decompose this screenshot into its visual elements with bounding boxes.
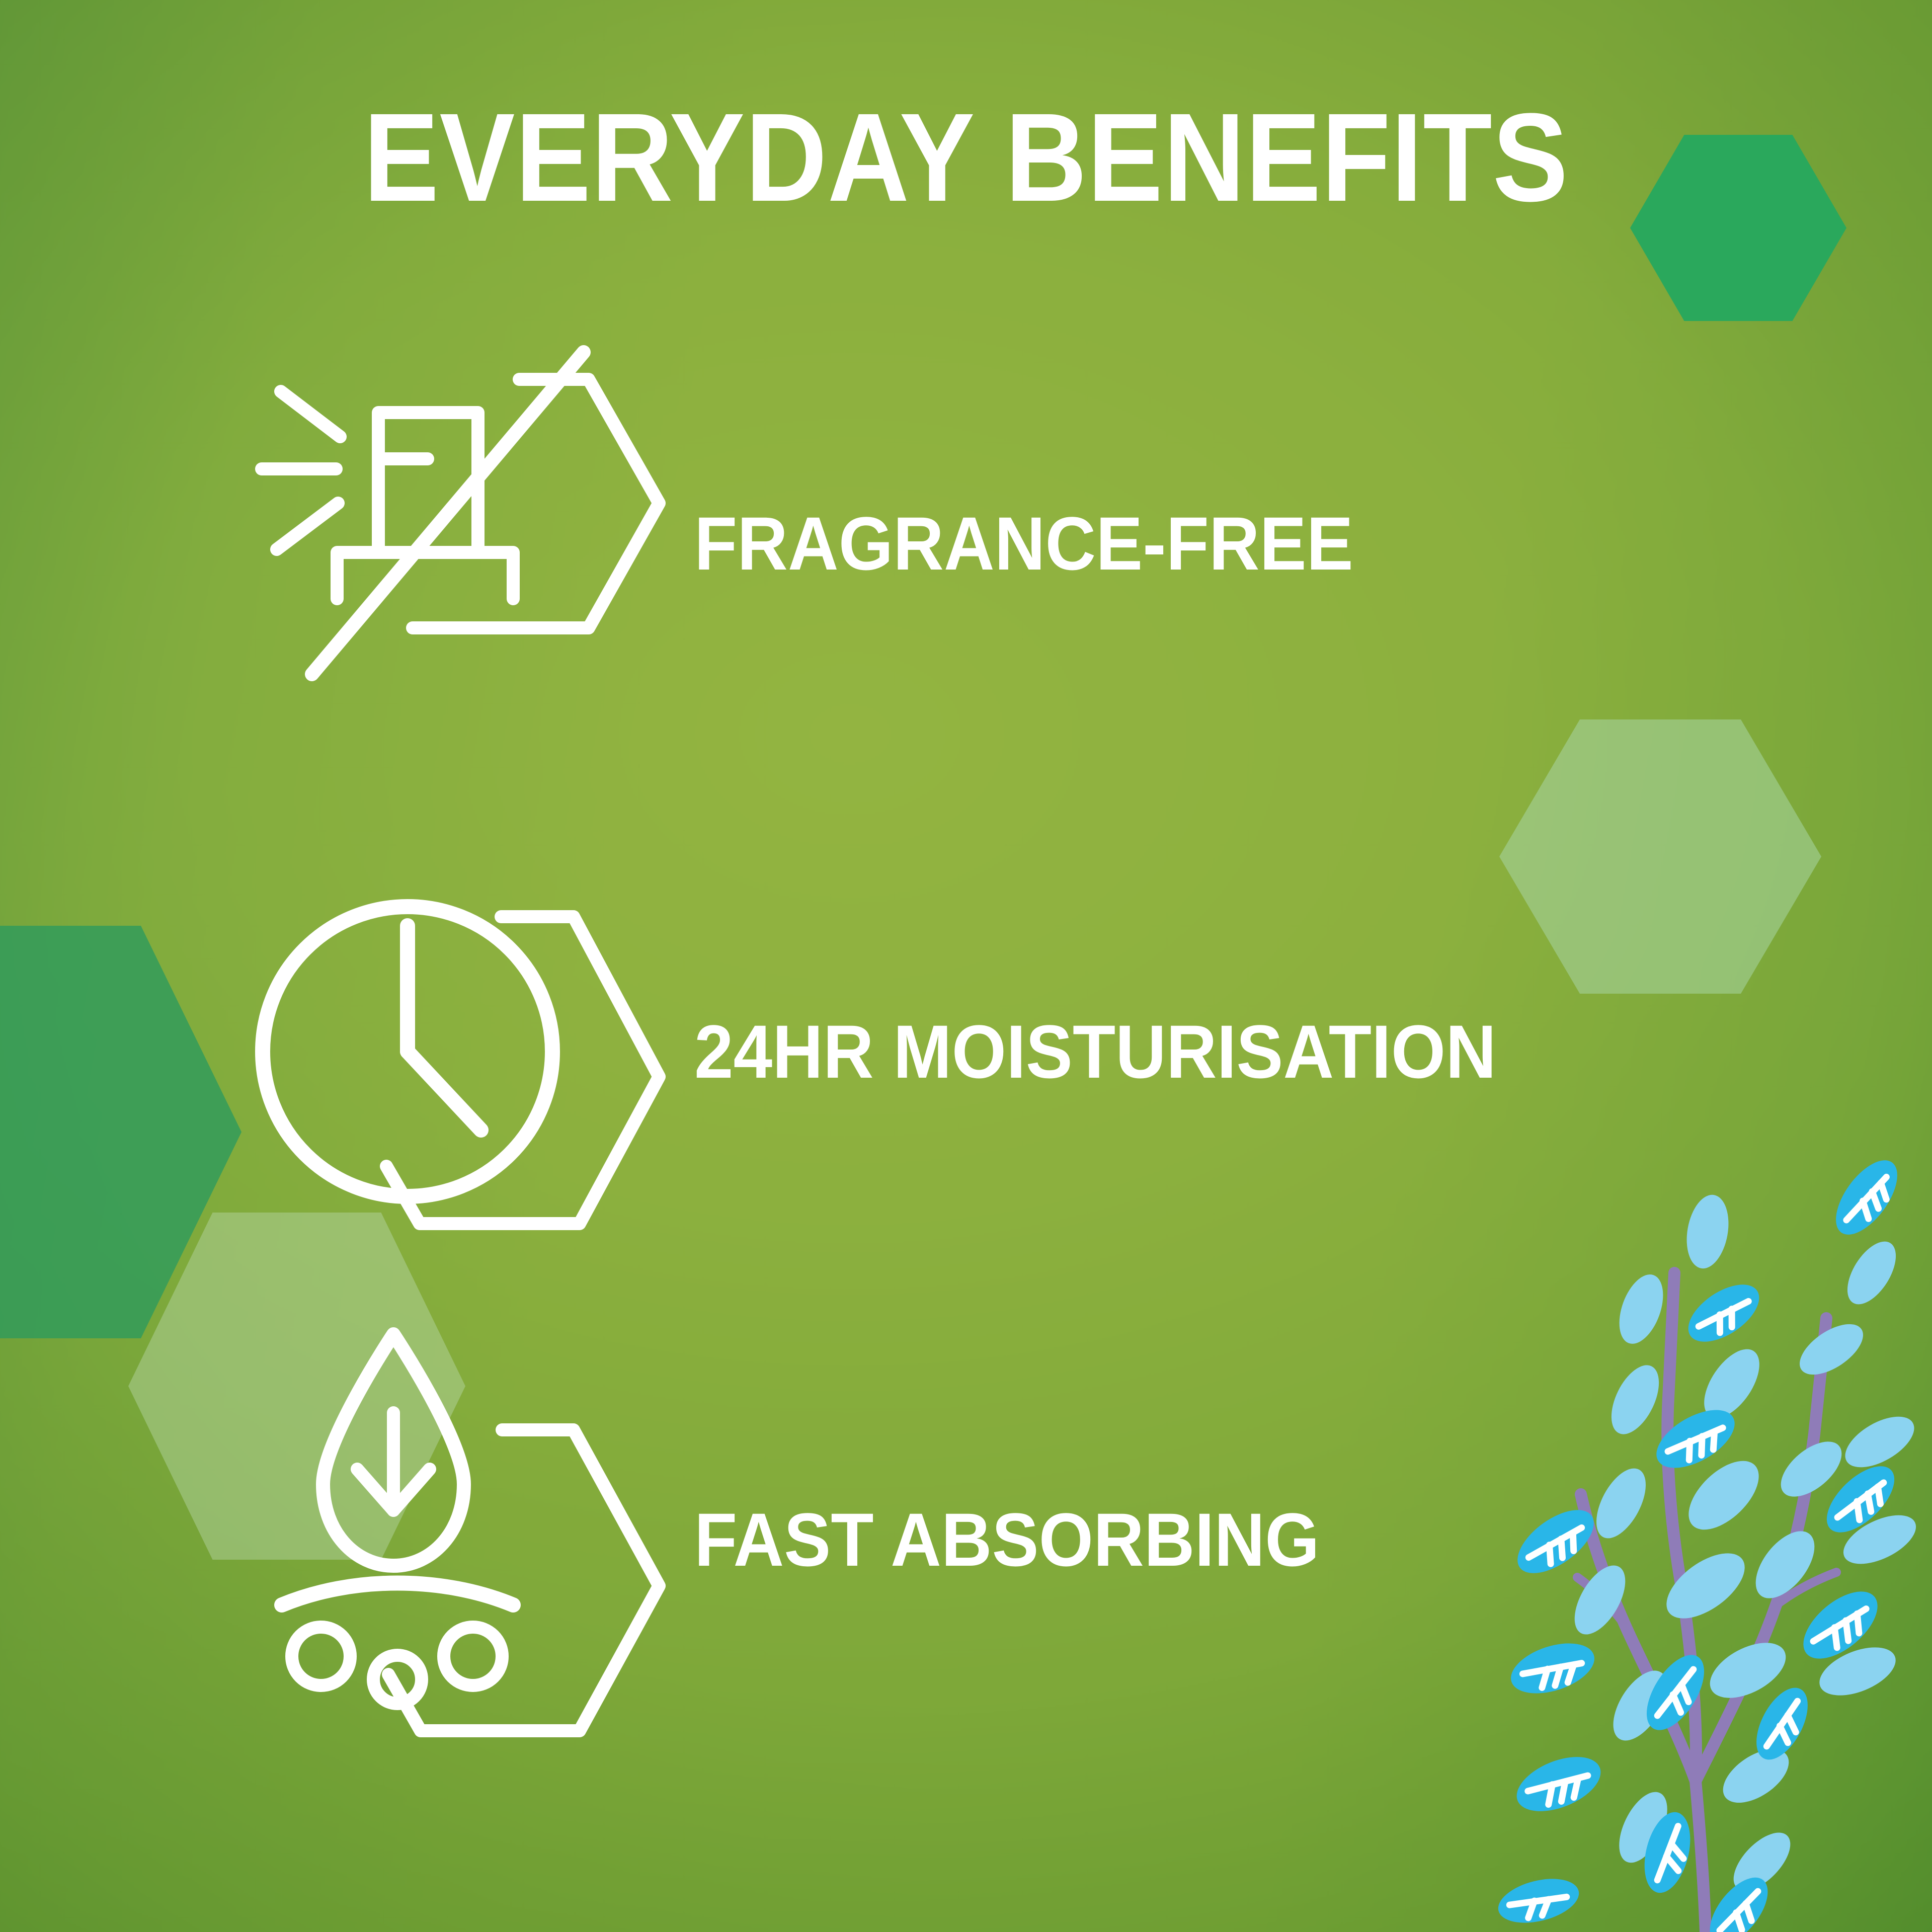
absorption-droplet-icon <box>262 1318 679 1761</box>
benefit-label-fragrance-free: FRAGRANCE-FREE <box>694 506 1353 581</box>
clock-icon <box>262 850 679 1253</box>
scent-line-bottom <box>277 503 338 549</box>
no-fragrance-icon <box>262 352 679 735</box>
pore-left <box>292 1627 350 1685</box>
benefit-row-fragrance-free: FRAGRANCE-FREE <box>262 352 1721 735</box>
benefit-row-fast-absorbing: FAST ABSORBING <box>262 1318 1721 1761</box>
benefit-row-moisturisation: 24HR MOISTURISATION <box>262 850 1721 1253</box>
benefit-label-moisturisation: 24HR MOISTURISATION <box>694 1014 1496 1089</box>
clock-hour-hand <box>408 1052 481 1130</box>
scent-line-top <box>281 391 340 437</box>
pore-right <box>444 1627 502 1685</box>
skin-surface-curve <box>282 1583 513 1605</box>
page-title: EVERYDAY BENEFITS <box>97 95 1835 220</box>
everyday-benefits-graphic: EVERYDAY BENEFITS FRAGRANCE-FREE <box>0 0 1932 1932</box>
benefit-label-fast-absorbing: FAST ABSORBING <box>694 1502 1320 1577</box>
bottle-base <box>337 552 513 599</box>
